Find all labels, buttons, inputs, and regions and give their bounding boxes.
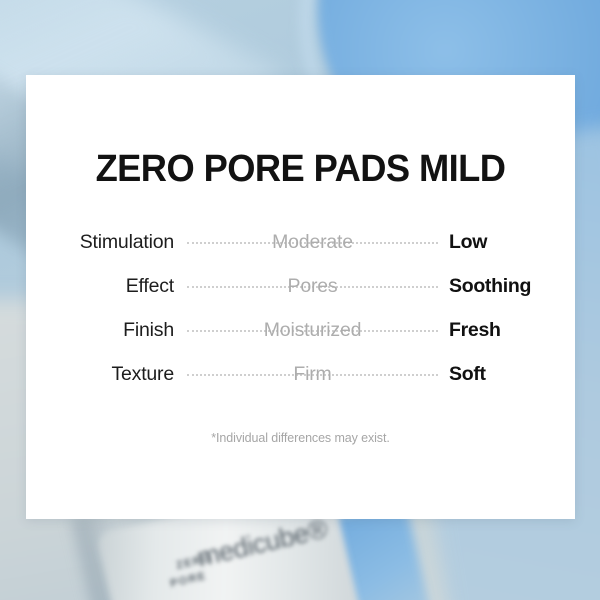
footnote-text: *Individual differences may exist. [26, 431, 575, 445]
bottle-line1-text: ZERO [175, 552, 213, 572]
bottle-shadow [72, 509, 145, 600]
spec-previous-value: Firm [293, 363, 331, 386]
spec-current-value: Soft [449, 363, 575, 386]
spec-previous-value: Moisturized [264, 319, 362, 342]
spec-label: Stimulation [26, 231, 174, 254]
spec-leader-dots: Moderate [187, 232, 438, 252]
spec-label: Finish [26, 319, 174, 342]
spec-label: Effect [26, 275, 174, 298]
bottle-line2-text: PORE [169, 570, 208, 590]
product-infographic: medicube® ZERO PORE ZERO PORE PADS MILD … [0, 0, 600, 600]
spec-current-value: Low [449, 231, 575, 254]
spec-previous-value: Pores [288, 275, 338, 298]
spec-leader-dots: Firm [187, 364, 438, 384]
spec-leader-dots: Pores [187, 276, 438, 296]
spec-table: Stimulation Moderate Low Effect Pores So… [26, 220, 575, 396]
spec-card: ZERO PORE PADS MILD Stimulation Moderate… [26, 75, 575, 519]
spec-leader-dots: Moisturized [187, 320, 438, 340]
spec-previous-value: Moderate [272, 231, 353, 254]
table-row: Effect Pores Soothing [26, 264, 575, 308]
table-row: Stimulation Moderate Low [26, 220, 575, 264]
spec-label: Texture [26, 363, 174, 386]
page-title: ZERO PORE PADS MILD [38, 148, 562, 191]
spec-current-value: Soothing [449, 275, 575, 298]
table-row: Texture Firm Soft [26, 352, 575, 396]
spec-current-value: Fresh [449, 319, 575, 342]
table-row: Finish Moisturized Fresh [26, 308, 575, 352]
bottle-brand-text: medicube® [194, 513, 330, 573]
